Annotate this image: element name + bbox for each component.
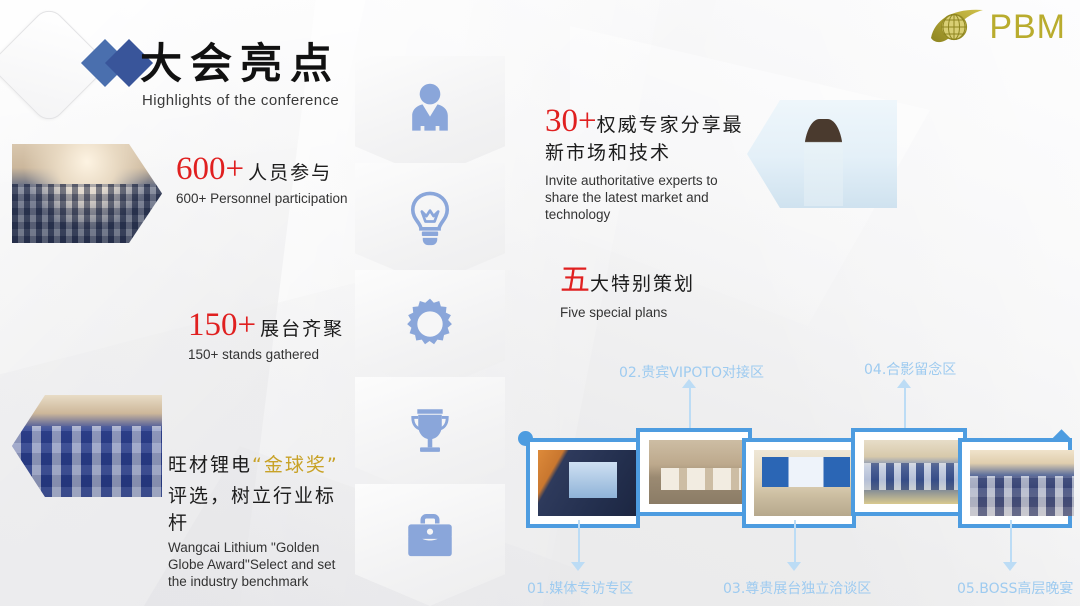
lightbulb-icon [401, 188, 459, 246]
left-item-cn-primary: 旺材锂电 [168, 454, 252, 476]
left-item-text: 150+ 展台齐聚 150+ stands gathered [188, 308, 344, 363]
zone-arrow-down-icon [1003, 562, 1017, 571]
pbm-logo: PBM [929, 8, 1066, 46]
chevron-panel-person [355, 56, 505, 178]
briefcase-icon [401, 509, 459, 567]
left-item-en: 150+ stands gathered [188, 346, 344, 363]
zone-arrow-up-icon [897, 379, 911, 388]
right-item-text: 30+权威专家分享最新市场和技术 Invite authoritative ex… [545, 104, 745, 223]
right-item-text: 五大特别策划 Five special plans [560, 264, 695, 321]
zone-frame[interactable] [636, 428, 752, 516]
left-item-number: 150+ [188, 308, 256, 342]
left-item-text: 600+ 人员参与 600+ Personnel participation [176, 152, 348, 207]
zone-connector [1010, 520, 1012, 562]
left-item-en: 600+ Personnel participation [176, 190, 348, 207]
zone-connector [578, 520, 580, 562]
chevron-panel-gear [355, 270, 505, 392]
chevron-panel-lightbulb [355, 163, 505, 285]
zone-arrow-down-icon [571, 562, 585, 571]
slide-canvas: 大会亮点 Highlights of the conference PBM [0, 0, 1080, 606]
icon-chevron-stack [355, 56, 505, 604]
gear-icon [401, 295, 459, 353]
zone-connector [689, 388, 691, 428]
right-item-cn: 大特别策划 [590, 273, 695, 295]
left-item-text: 旺材锂电“金球奖” 评选，树立行业标杆 Wangcai Lithium "Gol… [168, 450, 354, 590]
left-item-cn-secondary: 评选，树立行业标杆 [168, 481, 354, 535]
zone-label: 04.合影留念区 [864, 359, 956, 379]
page-title-cn: 大会亮点 [140, 38, 340, 90]
left-item-number: 600+ [176, 152, 244, 186]
chevron-panel-briefcase [355, 484, 505, 606]
zone-label: 01.媒体专访专区 [527, 578, 633, 598]
left-item-photo [12, 395, 162, 497]
zone-label: 02.贵宾VIPOTO对接区 [619, 362, 764, 382]
page-title-en: Highlights of the conference [142, 92, 339, 109]
left-item-photo [12, 144, 162, 243]
zone-frame[interactable] [742, 438, 856, 528]
trophy-icon [401, 402, 459, 460]
zone-label: 03.尊贵展台独立洽谈区 [723, 578, 871, 598]
left-item-cn: 展台齐聚 [260, 314, 344, 341]
zone-frame[interactable] [851, 428, 967, 516]
zone-frame[interactable] [958, 438, 1072, 528]
right-item-en: Five special plans [560, 304, 695, 321]
keynote-speaker-photo [747, 100, 897, 208]
zone-frame[interactable] [526, 438, 640, 528]
chevron-panel-trophy [355, 377, 505, 499]
left-item-en: Wangcai Lithium "Golden Globe Award"Sele… [168, 539, 354, 590]
left-item-cn: 人员参与 [248, 158, 332, 185]
zone-label: 05.BOSS高层晚宴 [957, 578, 1073, 598]
right-item-number: 30+ [545, 103, 597, 139]
pbm-logo-text: PBM [989, 10, 1066, 44]
globe-leaf-icon [929, 8, 985, 46]
zone-connector [904, 388, 906, 428]
zone-connector [794, 520, 796, 562]
left-item-cn-award: “金球奖” [252, 454, 339, 476]
zone-arrow-down-icon [787, 562, 801, 571]
right-item-number: 五 [560, 264, 590, 297]
right-item-en: Invite authoritative experts to share th… [545, 172, 745, 223]
person-icon [400, 80, 460, 140]
